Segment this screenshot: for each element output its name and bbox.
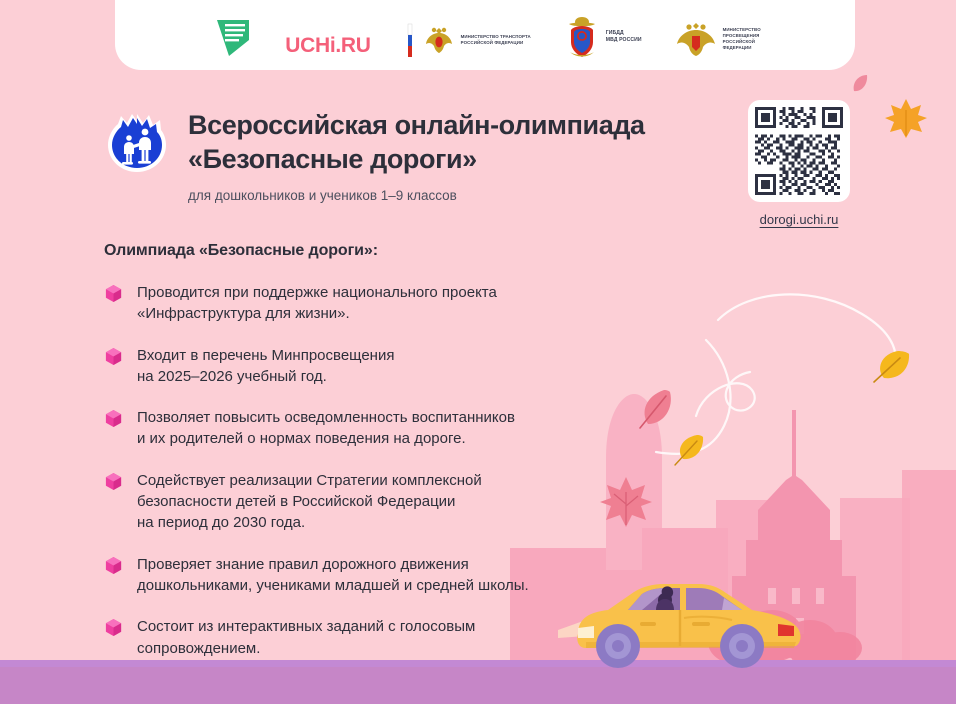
double-headed-eagle-gold-icon [676, 20, 716, 58]
title-block: Всероссийская онлайн-олимпиада «Безопасн… [106, 108, 726, 203]
poster-root: UCHi.RU МИНИСТЕРСТВО ТРАНСПОРТА РОССИЙСК… [0, 0, 956, 704]
pink-small-leaf-icon [848, 72, 870, 94]
list-item: Состоит из интерактивных заданий с голос… [104, 616, 624, 659]
national-projects-flag-icon [209, 18, 251, 58]
list-item: Входит в перечень Минпросвещения на 2025… [104, 345, 624, 388]
features-list-block: Олимпиада «Безопасные дороги»: Проводитс… [104, 242, 624, 679]
list-item-text: Позволяет повысить осведомленность воспи… [137, 407, 515, 450]
list-item-text: Проверяет знание правил дорожного движен… [137, 554, 529, 597]
decorative-swirls [600, 280, 956, 530]
gem-bullet-icon [104, 284, 123, 303]
yellow-car-illustration [556, 556, 816, 676]
uchi-ru-wordmark: UCHi.RU [285, 34, 370, 58]
ministry-of-transport-caption: МИНИСТЕРСТВО ТРАНСПОРТА РОССИЙСКОЙ ФЕДЕР… [461, 34, 531, 46]
yellow-small-leaf-icon [672, 432, 706, 468]
pink-leaf-icon [636, 388, 676, 430]
qr-code-matrix [755, 107, 843, 195]
safe-roads-brand-icon [106, 112, 168, 174]
list-item: Содействует реализации Стратегии комплек… [104, 470, 624, 534]
title-text: Всероссийская онлайн-олимпиада «Безопасн… [188, 108, 645, 176]
dorogi-uchi-ru-link[interactable]: dorogi.uchi.ru [760, 212, 839, 227]
features-list: Проводится при поддержке национального п… [104, 282, 624, 659]
list-item-text: Содействует реализации Стратегии комплек… [137, 470, 482, 534]
list-item-text: Состоит из интерактивных заданий с голос… [137, 616, 475, 659]
national-projects-russia-logo [209, 18, 251, 58]
gem-bullet-icon [104, 472, 123, 491]
qr-block: dorogi.uchi.ru [744, 100, 854, 229]
uchi-ru-logo: UCHi.RU [285, 34, 370, 58]
gem-bullet-icon [104, 347, 123, 366]
gibdd-mvd-logo: ГИБДД МВД РОССИИ [565, 16, 642, 58]
yellow-leaf-icon [870, 348, 912, 384]
qr-code[interactable] [748, 100, 850, 202]
list-item-text: Входит в перечень Минпросвещения на 2025… [137, 345, 394, 388]
ministry-of-education-caption: МИНИСТЕРСТВО ПРОСВЕЩЕНИЯ РОССИЙСКОЙ ФЕДЕ… [723, 27, 761, 50]
partner-logos-panel: UCHi.RU МИНИСТЕРСТВО ТРАНСПОРТА РОССИЙСК… [115, 0, 855, 70]
gem-bullet-icon [104, 556, 123, 575]
list-item: Проверяет знание правил дорожного движен… [104, 554, 624, 597]
list-item: Позволяет повысить осведомленность воспи… [104, 407, 624, 450]
title-subtitle: для дошкольников и учеников 1–9 классов [188, 188, 726, 203]
double-headed-eagle-icon [424, 24, 454, 56]
ministry-of-transport-logo: МИНИСТЕРСТВО ТРАНСПОРТА РОССИЙСКОЙ ФЕДЕР… [405, 22, 531, 58]
list-heading: Олимпиада «Безопасные дороги»: [104, 242, 624, 260]
gem-bullet-icon [104, 409, 123, 428]
title-line-2: «Безопасные дороги» [188, 144, 477, 174]
list-item-text: Проводится при поддержке национального п… [137, 282, 497, 325]
gibdd-emblem-icon [565, 16, 599, 58]
gem-bullet-icon [104, 618, 123, 637]
russian-flag-bar-icon [405, 22, 417, 58]
list-item: Проводится при поддержке национального п… [104, 282, 624, 325]
orange-maple-leaf-icon [884, 96, 928, 140]
title-line-1: Всероссийская онлайн-олимпиада [188, 110, 645, 140]
ministry-of-education-logo: МИНИСТЕРСТВО ПРОСВЕЩЕНИЯ РОССИЙСКОЙ ФЕДЕ… [676, 20, 761, 58]
gibdd-mvd-caption: ГИБДД МВД РОССИИ [606, 30, 642, 43]
